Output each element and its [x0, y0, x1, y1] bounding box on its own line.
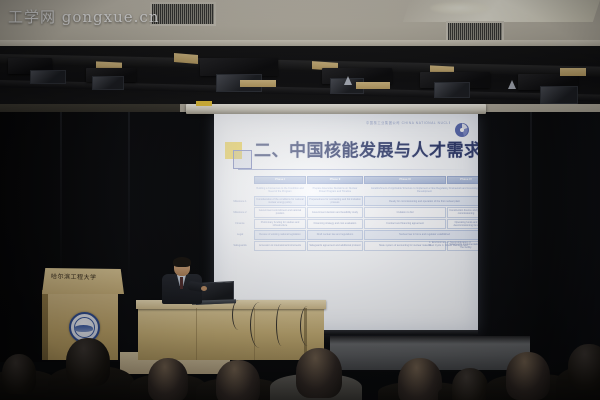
table-subtitle-corner	[227, 185, 253, 195]
cable-1	[232, 300, 245, 330]
table-header-phase-3: Phase III	[364, 176, 446, 184]
ceiling-light-glow	[430, 2, 490, 14]
cell-r3c3: Contract and financing agreement	[364, 219, 446, 229]
lectern: 哈尔滨工程大学	[42, 268, 124, 360]
nuclear-corp-logo-icon	[454, 122, 470, 138]
slide-logo-caption: 中国核工业集团公司 CHINA NATIONAL NUCLEAR CORPORA…	[366, 121, 450, 126]
row-label-safeguards: Safeguards	[227, 241, 253, 251]
table-row: Milestone 1 Consideration of the conditi…	[227, 196, 478, 206]
row-label-finance: Finance	[227, 219, 253, 229]
stage-floor-shadow	[330, 336, 530, 344]
audience-shoulders	[378, 382, 466, 400]
audience-shoulders	[438, 384, 510, 400]
desk-seam-1	[196, 308, 197, 360]
presenter-tie	[180, 277, 183, 289]
stage-light-face-6	[540, 86, 578, 104]
cell-r1c2: Preparedness for contracting and bid inv…	[307, 196, 363, 206]
cell-r3c1: Preliminary funding for studies and infr…	[254, 219, 306, 229]
audience-head	[452, 368, 488, 400]
desk-front-panel	[138, 308, 324, 360]
watermark: 工学网 gongxue.cn	[8, 8, 160, 26]
cell-r3c2: Financing strategy and cost evaluation	[307, 219, 363, 229]
table-header-phase-4: Phase IV	[447, 176, 478, 184]
audience-shoulders	[486, 374, 578, 400]
cell-r4c2: Draft nuclear law and regulations	[307, 230, 363, 240]
table-row: Legal Review of existing national legisl…	[227, 230, 478, 240]
audience-shoulders	[270, 374, 362, 400]
slide-title: 二、中国核能发展与人才需求	[254, 140, 472, 162]
row-label-legal: Legal	[227, 230, 253, 240]
cable-2	[250, 302, 269, 348]
curtain-fold-2	[128, 112, 130, 360]
cell-r4c1: Review of existing national legislation	[254, 230, 306, 240]
presenter-desk	[136, 300, 326, 360]
audience-shoulders	[0, 370, 58, 400]
table-header-phase-2: Phase II	[307, 176, 363, 184]
cell-r2c4: Construction licence and plant commissio…	[447, 207, 478, 217]
stage-light-face-1	[30, 70, 66, 84]
presenter-hair	[173, 257, 191, 267]
light-beam-2	[508, 80, 516, 89]
table-header-row: Phase I Phase II Phase III Phase IV	[227, 176, 478, 184]
lecture-hall-photo: 中国核工业集团公司 CHINA NATIONAL NUCLEAR CORPORA…	[0, 0, 600, 400]
stage-curtain-right	[478, 112, 600, 362]
table-subtitle-row: Building a Consensus to the Condition an…	[227, 185, 478, 195]
stage-light-face-5	[434, 82, 470, 98]
decoration-blue-square	[233, 150, 252, 169]
table-subtitle-2: Prepare Executive Decisions on Nuclear P…	[307, 185, 363, 195]
truss-bracket-5	[356, 82, 390, 89]
truss-bracket-3	[240, 80, 276, 87]
audience-shoulders	[130, 374, 206, 400]
table-row: Finance Preliminary funding for studies …	[227, 219, 478, 229]
cell-r1c1: Consideration of the conditions for nati…	[254, 196, 306, 206]
cell-r2c1: Government commitment and national posit…	[254, 207, 306, 217]
cell-r3c4: Operating funds and decommissioning fund	[447, 219, 478, 229]
table-header-phase-1: Phase I	[254, 176, 306, 184]
cable-3	[276, 304, 287, 346]
stage-light-face-2	[92, 76, 124, 90]
ceiling-strip-light	[403, 0, 600, 22]
curtain-fold-3	[530, 112, 532, 360]
table-subtitle-1: Building a Consensus to the Condition an…	[254, 185, 306, 195]
row-label-milestone-2: Milestone 2	[227, 207, 253, 217]
cell-r4c3: Nuclear law in force and regulator estab…	[364, 230, 478, 240]
university-crest-icon	[69, 312, 100, 343]
audience-shoulders	[196, 378, 282, 400]
title-underline	[238, 169, 470, 170]
light-beam-1	[344, 76, 352, 85]
cell-r2c3: Invitation to bid	[364, 207, 446, 217]
cell-r1c3: Ready for commissioning and operation of…	[364, 196, 478, 206]
cell-r5c1: Accession to international instruments	[254, 241, 306, 251]
truss-bracket-7	[560, 68, 586, 76]
table-row: Milestone 2 Government commitment and na…	[227, 207, 478, 217]
cell-r2c2: Government decision and feasibility stud…	[307, 207, 363, 217]
lighting-truss	[0, 46, 600, 108]
presenter	[160, 258, 204, 304]
table-corner-cell	[227, 176, 253, 184]
lectern-university-name: 哈尔滨工程大学	[51, 273, 115, 283]
ceiling-vent-right	[446, 21, 504, 42]
slide-side-note: 1. Environment 2. Nonproliferation 3. Fu…	[429, 241, 475, 248]
projection-screen-housing	[186, 104, 486, 114]
presenter-hand	[201, 286, 207, 291]
crest-wave	[74, 325, 93, 332]
table-subtitle-3: Establishment of Applicable Structure to…	[364, 185, 478, 195]
title-decoration	[225, 142, 251, 168]
cable-4	[300, 306, 315, 346]
row-label-milestone-1: Milestone 1	[227, 196, 253, 206]
screen-housing-label	[196, 101, 212, 106]
cell-r5c2: Safeguards agreement and additional prot…	[307, 241, 363, 251]
